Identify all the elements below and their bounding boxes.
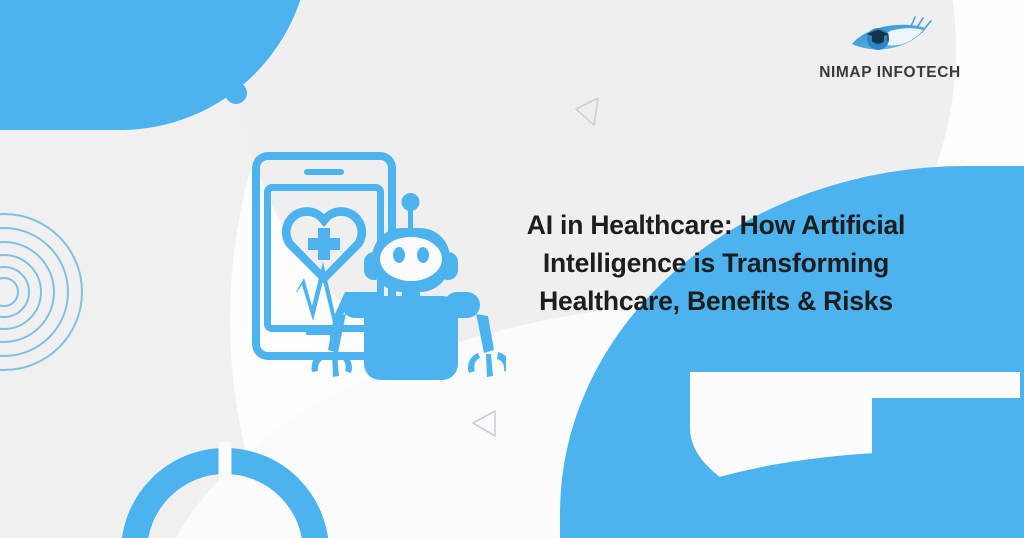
headline-line-3: Healthcare, Benefits & Risks xyxy=(496,282,936,320)
concentric-rings-left xyxy=(0,212,84,372)
blue-donut-ring-bottom-left xyxy=(121,448,329,538)
headline-line-2: Intelligence is Transforming xyxy=(496,244,936,282)
blue-blob-top-left-tail xyxy=(0,0,160,125)
brand-name: NIMAP INFOTECH xyxy=(790,64,990,82)
eye-with-graduation-cap-logo xyxy=(838,14,942,60)
donut-gap xyxy=(219,442,232,482)
headline-line-1: AI in Healthcare: How Artificial xyxy=(496,206,936,244)
brand-logo[interactable]: NIMAP INFOTECH xyxy=(790,14,990,82)
banner-canvas: NIMAP INFOTECH xyxy=(0,0,1024,538)
page-title: AI in Healthcare: How Artificial Intelli… xyxy=(496,206,936,320)
blue-dot xyxy=(225,82,247,104)
smartphone-health-robot-illustration xyxy=(246,132,506,380)
